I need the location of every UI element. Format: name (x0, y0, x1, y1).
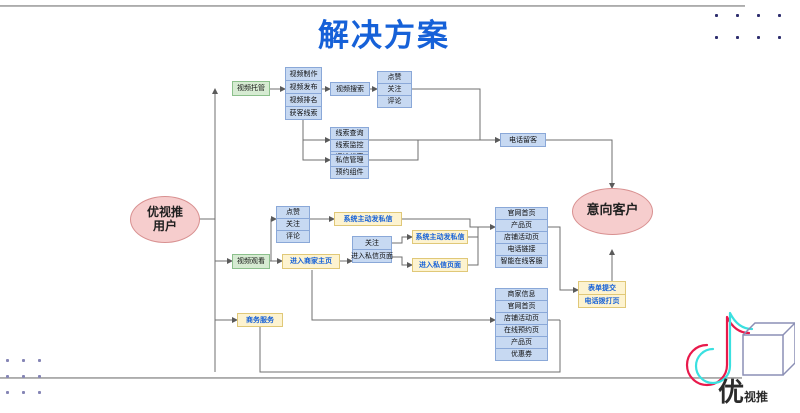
branch-video-hosting-label: 视频托管 (237, 85, 265, 92)
system-dm-top-node[interactable]: 系统主动发私信 (334, 212, 402, 226)
phone-retain-node[interactable]: 电话留客 (500, 133, 546, 147)
stack-cell[interactable]: 进入私信页面 (352, 249, 392, 263)
stack-cell[interactable]: 评论 (276, 230, 310, 243)
video-search-node[interactable]: 视频搜索 (330, 82, 370, 96)
merchant-action-stack: 关注进入私信页面 (352, 236, 392, 263)
brand-sub-chars: 视推 (744, 390, 768, 404)
slide-canvas: 解决方案 (0, 0, 800, 413)
stack-cell[interactable]: 智能在线客服 (495, 255, 548, 268)
stack-cell[interactable]: 视频排名 (285, 93, 322, 107)
landing-pages-upper-stack: 官网首页产品页店铺活动页电话链接智能在线客服 (495, 207, 548, 268)
system-dm-mid-node[interactable]: 系统主动发私信 (412, 230, 468, 244)
enter-merchant-home-node[interactable]: 进入商家主页 (282, 254, 340, 269)
phone-retain-label: 电话留客 (509, 137, 537, 144)
actor-customer-label: 意向客户 (586, 204, 638, 219)
stack-cell[interactable]: 获客线索 (285, 106, 322, 120)
system-dm-mid-label: 系统主动发私信 (416, 234, 465, 241)
enter-merchant-home-label: 进入商家主页 (290, 258, 332, 265)
conversion-stack: 表单提交电话拨打页 (578, 281, 626, 308)
cube-icon (743, 323, 795, 375)
video-search-label: 视频搜索 (336, 86, 364, 93)
branch-video-watching-label: 视频观看 (237, 258, 265, 265)
actor-customer-node[interactable]: 意向客户 (572, 188, 653, 235)
enter-dm-page-label: 进入私信页面 (419, 262, 461, 269)
actor-user-node[interactable]: 优视推 用户 (130, 196, 200, 243)
search-action-stack: 点赞关注评论 (377, 71, 412, 108)
stack-cell[interactable]: 表单提交 (578, 281, 626, 295)
stack-cell[interactable]: 评论 (377, 95, 412, 108)
branch-business-service[interactable]: 商务服务 (237, 313, 283, 327)
actor-user-line1: 优视推 (147, 206, 183, 220)
hosting-task-stack: 视频制作视频发布视频排名获客线索 (285, 67, 322, 120)
branch-business-service-label: 商务服务 (246, 317, 274, 324)
watch-action-stack: 点赞关注评论 (276, 206, 310, 243)
brand-wordmark: 优视推 (718, 372, 768, 409)
landing-pages-lower-stack: 商家信息官网首页店铺活动页在线预约页产品页优惠券 (495, 288, 548, 361)
system-dm-top-label: 系统主动发私信 (344, 216, 393, 223)
stack-cell[interactable]: 视频制作 (285, 67, 322, 81)
stack-cell[interactable]: 视频发布 (285, 80, 322, 94)
stack-cell[interactable]: 预约组件 (330, 166, 369, 179)
enter-dm-page-node[interactable]: 进入私信页面 (412, 258, 468, 272)
dm-group-stack: 私信管理预约组件 (330, 154, 369, 179)
branch-video-watching[interactable]: 视频观看 (232, 254, 270, 269)
stack-cell[interactable]: 优惠券 (495, 348, 548, 361)
branch-video-hosting[interactable]: 视频托管 (232, 81, 270, 96)
stack-cell[interactable]: 电话拨打页 (578, 294, 626, 308)
brand-main-char: 优 (718, 378, 744, 408)
stack-cell[interactable]: 关注 (352, 236, 392, 250)
actor-user-line2: 用户 (153, 220, 177, 234)
